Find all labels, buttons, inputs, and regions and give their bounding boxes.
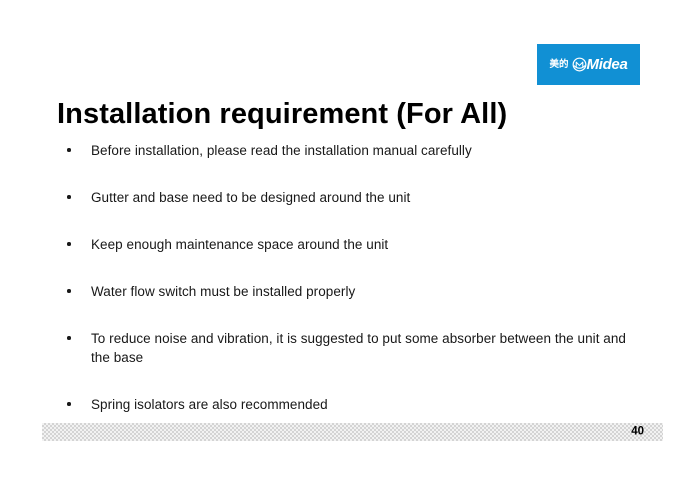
list-item: Spring isolators are also recommended bbox=[62, 395, 632, 414]
list-item-text: Keep enough maintenance space around the… bbox=[91, 235, 632, 254]
list-item: To reduce noise and vibration, it is sug… bbox=[62, 329, 632, 367]
midea-logo: 美的 Midea bbox=[537, 44, 640, 85]
footer-bar: 40 bbox=[42, 423, 663, 441]
page-title: Installation requirement (For All) bbox=[57, 97, 507, 131]
list-item-text: To reduce noise and vibration, it is sug… bbox=[91, 329, 632, 367]
list-item: Water flow switch must be installed prop… bbox=[62, 282, 632, 301]
bullet-dot-icon bbox=[67, 289, 71, 293]
list-item: Keep enough maintenance space around the… bbox=[62, 235, 632, 254]
bullet-dot-icon bbox=[67, 195, 71, 199]
bullet-dot-icon bbox=[67, 402, 71, 406]
midea-swoosh-icon bbox=[572, 57, 587, 72]
page-number: 40 bbox=[631, 426, 644, 438]
list-item-text: Spring isolators are also recommended bbox=[91, 395, 632, 414]
bullet-dot-icon bbox=[67, 336, 71, 340]
list-item-text: Before installation, please read the ins… bbox=[91, 141, 632, 160]
slide-canvas: 美的 Midea Installation requirement (For A… bbox=[0, 0, 700, 500]
logo-chinese-text: 美的 bbox=[549, 60, 568, 70]
bullet-list: Before installation, please read the ins… bbox=[62, 141, 632, 414]
bullet-dot-icon bbox=[67, 148, 71, 152]
logo-wordmark: Midea bbox=[587, 57, 628, 72]
list-item: Before installation, please read the ins… bbox=[62, 141, 632, 160]
list-item-text: Water flow switch must be installed prop… bbox=[91, 282, 632, 301]
list-item: Gutter and base need to be designed arou… bbox=[62, 188, 632, 207]
bullet-dot-icon bbox=[67, 242, 71, 246]
list-item-text: Gutter and base need to be designed arou… bbox=[91, 188, 632, 207]
